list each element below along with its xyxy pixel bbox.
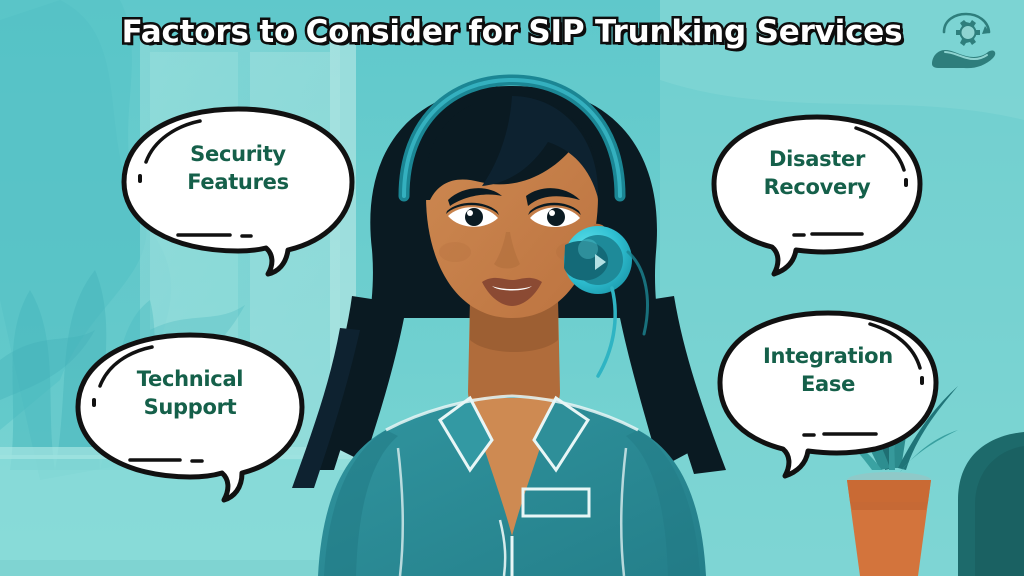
bubble-security-features[interactable]: Security Features <box>118 104 358 276</box>
infographic-canvas: Factors to Consider for SIP Trunking Ser… <box>0 0 1024 576</box>
hand-holding-gear-icon <box>928 12 1002 70</box>
bubble-integration-ease[interactable]: Integration Ease <box>714 308 942 478</box>
bubble-technical-support[interactable]: Technical Support <box>72 330 308 502</box>
bubble-disaster-recovery[interactable]: Disaster Recovery <box>708 112 926 276</box>
headset-earcup <box>564 226 632 294</box>
